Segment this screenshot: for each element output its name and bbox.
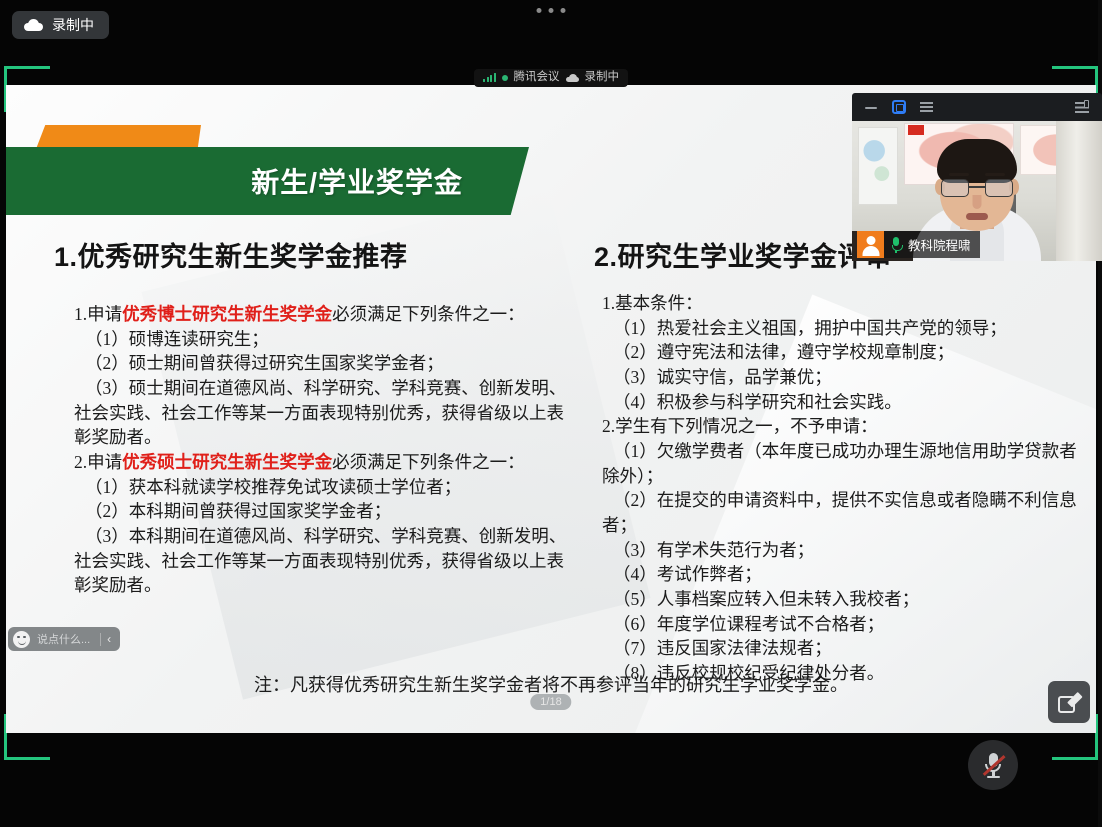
chat-input-placeholder[interactable]: 说点什么...	[35, 631, 100, 647]
window-curtain	[1056, 121, 1102, 261]
right-para-13: （7）违反国家法律法规者；	[602, 636, 1084, 661]
slide-column-right: 2.研究生学业奖学金评审 1.基本条件： （1）热爱社会主义祖国，拥护中国共产党…	[586, 235, 1096, 686]
person-eyebrow-right	[985, 173, 1005, 176]
smiley-icon[interactable]	[13, 631, 30, 648]
right-para-2: （1）热爱社会主义祖国，拥护中国共产党的领导；	[602, 316, 1084, 341]
glasses-lens-left	[941, 179, 969, 197]
slide-title: 新生/学业奖学金	[251, 161, 529, 201]
meeting-recording-label: 录制中	[585, 72, 620, 84]
wall-poster-left	[858, 127, 898, 205]
cloud-icon	[566, 74, 579, 82]
right-para-1: 1.基本条件：	[602, 291, 1084, 316]
flag-icon	[908, 125, 924, 135]
mute-microphone-button[interactable]	[968, 740, 1018, 790]
chevron-left-icon[interactable]: ‹	[101, 633, 117, 645]
left-para-3: （2）硕士期间曾获得过研究生国家奖学金者；	[74, 351, 574, 376]
drag-dot	[537, 8, 542, 13]
right-para-11: （5）人事档案应转入但未转入我校者；	[602, 587, 1084, 612]
banner-green-band: 新生/学业奖学金	[6, 147, 529, 215]
left-body: 1.申请优秀博士研究生新生奖学金必须满足下列条件之一： （1）硕博连读研究生； …	[54, 302, 574, 598]
participant-name-tag: 教科院程啸	[857, 231, 980, 258]
list-view-icon[interactable]	[919, 100, 934, 114]
person-hair	[937, 139, 1017, 183]
pen-icon	[1058, 691, 1080, 713]
right-para-9: （3）有学术失范行为者；	[602, 538, 1084, 563]
left-para-7: （2）本科期间曾获得过国家奖学金者；	[74, 499, 574, 524]
slide-columns: 1.优秀研究生新生奖学金推荐 1.申请优秀博士研究生新生奖学金必须满足下列条件之…	[6, 235, 1096, 686]
left-heading: 1.优秀研究生新生奖学金推荐	[54, 235, 574, 274]
right-para-7: （1）欠缴学费者（本年度已成功办理生源地信用助学贷款者除外）；	[602, 439, 1084, 488]
right-para-12: （6）年度学位课程考试不合格者；	[602, 612, 1084, 637]
highlight-text: 优秀硕士研究生新生奖学金	[122, 452, 332, 472]
participant-video-tile[interactable]: 教科院程啸	[852, 121, 1102, 261]
microphone-icon	[890, 237, 902, 253]
highlight-text: 优秀博士研究生新生奖学金	[122, 304, 332, 324]
left-para-1: 1.申请优秀博士研究生新生奖学金必须满足下列条件之一：	[74, 302, 574, 327]
left-para-4: （3）硕士期间在道德风尚、科学研究、学科竞赛、创新发明、社会实践、社会工作等某一…	[74, 376, 574, 450]
left-para-5: 2.申请优秀硕士研究生新生奖学金必须满足下列条件之一：	[74, 450, 574, 475]
microphone-muted-icon	[982, 752, 1004, 778]
annotate-button[interactable]	[1048, 681, 1090, 723]
person-avatar-icon	[857, 231, 884, 258]
signal-strength-icon	[483, 73, 496, 82]
glasses-lens-right	[985, 179, 1013, 197]
participant-name: 教科院程啸	[908, 235, 971, 254]
recording-pill[interactable]: 录制中	[12, 11, 109, 39]
person-eyebrow-left	[949, 173, 969, 176]
person-nose	[973, 195, 982, 209]
maximize-icon[interactable]	[892, 100, 906, 114]
right-para-5: （4）积极参与科学研究和社会实践。	[602, 390, 1084, 415]
chat-input-bar[interactable]: 说点什么... ‹	[8, 627, 120, 651]
settings-icon[interactable]	[1075, 100, 1090, 114]
left-para-6: （1）获本科就读学校推荐免试攻读硕士学位者；	[74, 475, 574, 500]
meeting-app-name: 腾讯会议	[514, 72, 560, 84]
right-para-6: 2.学生有下列情况之一，不予申请：	[602, 414, 1084, 439]
cloud-icon	[24, 19, 43, 31]
drag-dot	[561, 8, 566, 13]
person-mouth	[966, 213, 988, 220]
status-dot-icon	[502, 75, 508, 81]
right-para-3: （2）遵守宪法和法律，遵守学校规章制度；	[602, 340, 1084, 365]
recording-label: 录制中	[52, 18, 94, 32]
left-para-8: （3）本科期间在道德风尚、科学研究、学科竞赛、创新发明、社会实践、社会工作等某一…	[74, 524, 574, 598]
right-para-8: （2）在提交的申请资料中，提供不实信息或者隐瞒不利信息者；	[602, 488, 1084, 537]
right-para-4: （3）诚实守信，品学兼优；	[602, 365, 1084, 390]
window-drag-handle[interactable]	[537, 8, 566, 13]
app-root: 录制中 腾讯会议 录制中 新生/学业奖学金 1.优秀研究生新生奖学金推荐 1.申…	[0, 0, 1102, 827]
name-chip: 教科院程啸	[884, 231, 980, 258]
right-para-10: （4）考试作弊者；	[602, 562, 1084, 587]
slide-column-left: 1.优秀研究生新生奖学金推荐 1.申请优秀博士研究生新生奖学金必须满足下列条件之…	[6, 235, 586, 686]
meeting-status-bar[interactable]: 腾讯会议 录制中	[474, 69, 628, 87]
minimize-icon[interactable]	[864, 100, 879, 114]
glasses-bridge	[969, 186, 985, 188]
video-window-toolbar	[852, 93, 1102, 121]
left-para-2: （1）硕博连读研究生；	[74, 327, 574, 352]
drag-dot	[549, 8, 554, 13]
floating-video-window[interactable]: 教科院程啸	[852, 93, 1102, 261]
right-body: 1.基本条件： （1）热爱社会主义祖国，拥护中国共产党的领导； （2）遵守宪法和…	[594, 291, 1084, 686]
page-indicator: 1/18	[530, 694, 571, 710]
